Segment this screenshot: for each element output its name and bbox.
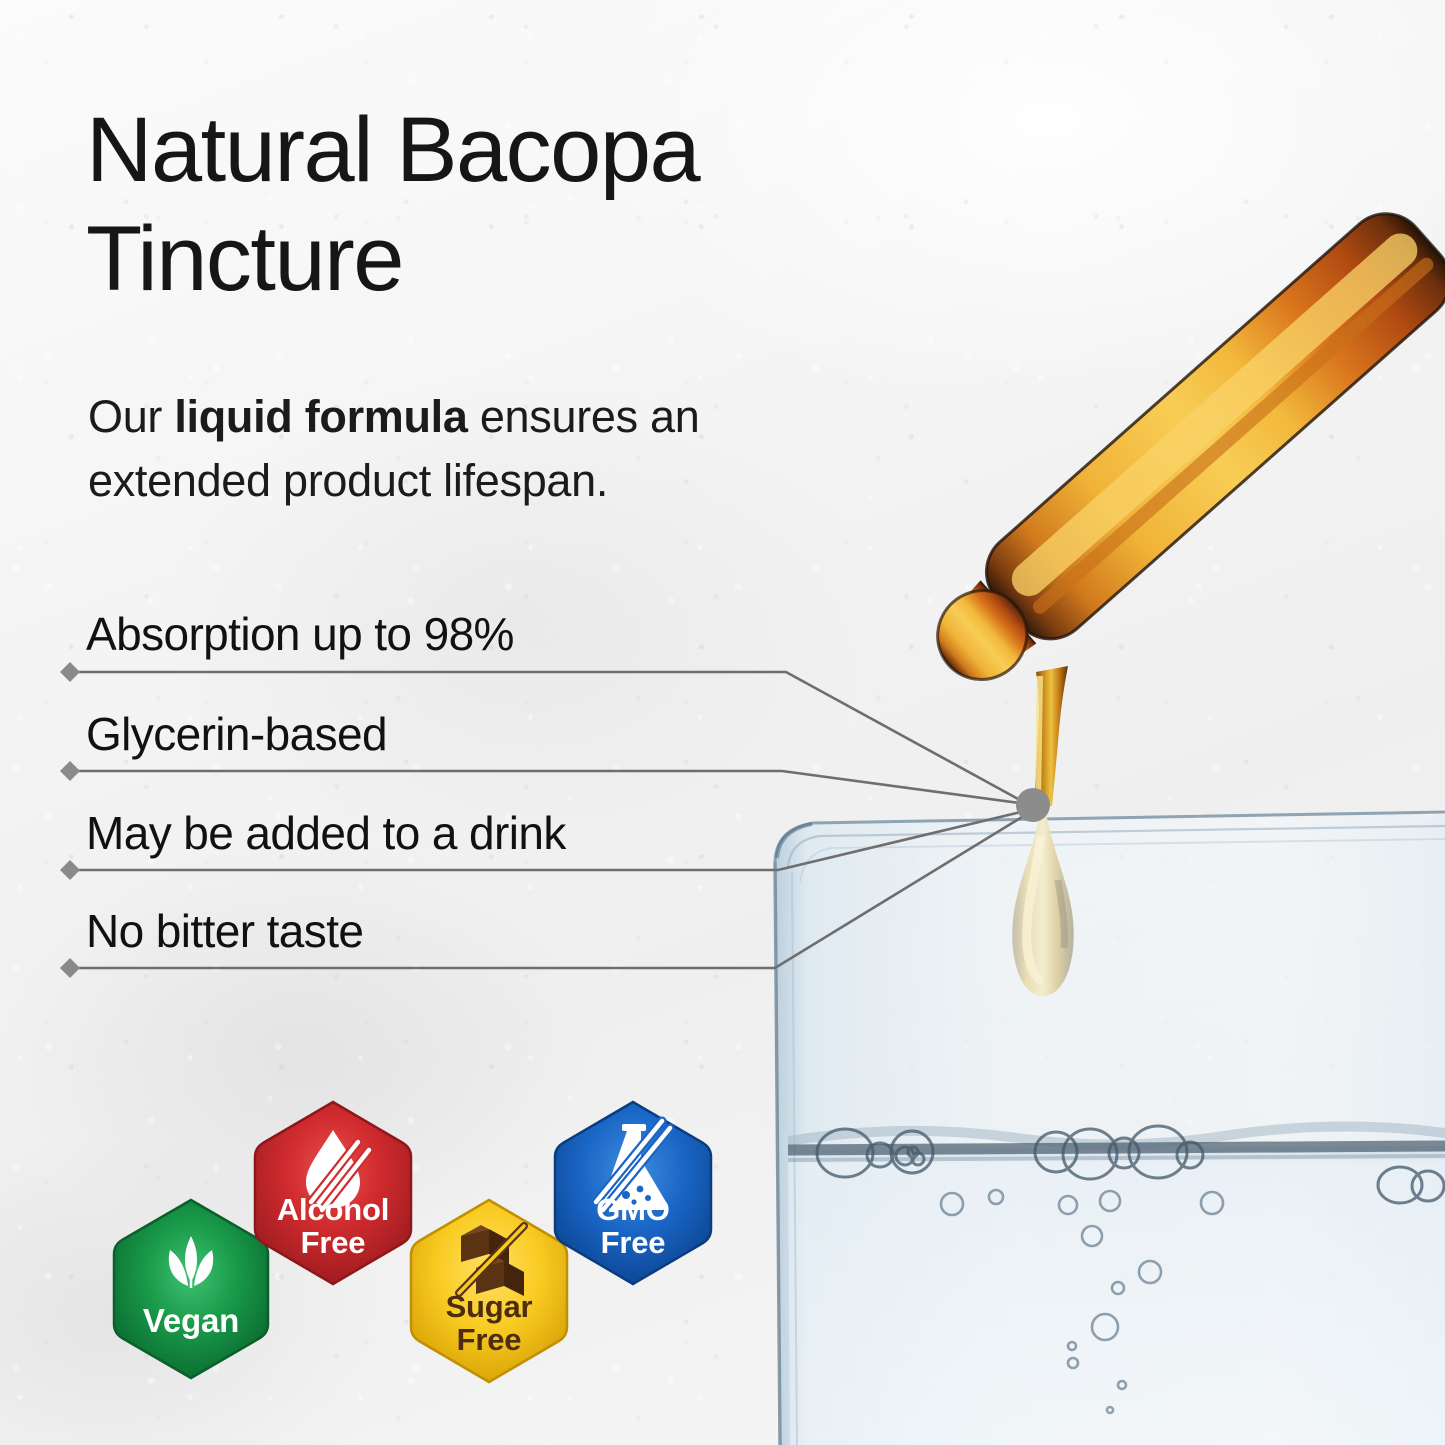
badge-sugar-free-label-2: Free	[404, 1324, 574, 1356]
subtitle-before: Our	[88, 391, 174, 442]
leader-line-1	[70, 771, 1019, 803]
glass-pipette	[919, 197, 1445, 806]
page-title: Natural Bacopa Tincture	[86, 96, 966, 313]
leader-marker-0	[60, 662, 80, 682]
badge-alcohol-free-label-1: Alcohol	[248, 1194, 418, 1226]
badge-vegan-label: Vegan	[108, 1304, 274, 1338]
feature-label-added-to-drink: May be added to a drink	[86, 810, 566, 856]
feature-label-glycerin: Glycerin-based	[86, 711, 387, 757]
feature-label-absorption: Absorption up to 98%	[86, 611, 514, 657]
leader-marker-2	[60, 860, 80, 880]
badge-gmo-free[interactable]: GMO Free	[548, 1098, 718, 1288]
hexagon-shape	[114, 1200, 268, 1378]
product-infographic: Natural Bacopa Tincture Our liquid formu…	[0, 0, 1445, 1445]
badge-gmo-free-label-1: GMO	[548, 1194, 718, 1226]
feature-label-no-bitter-taste: No bitter taste	[86, 908, 363, 954]
badge-alcohol-free-label-2: Free	[248, 1227, 418, 1259]
subtitle: Our liquid formula ensures an extended p…	[88, 385, 848, 513]
badge-gmo-free-label-2: Free	[548, 1227, 718, 1259]
leader-markers	[60, 662, 80, 978]
leader-marker-3	[60, 958, 80, 978]
badge-alcohol-free[interactable]: Alcohol Free	[248, 1098, 418, 1288]
badge-sugar-free-label-1: Sugar	[404, 1291, 574, 1323]
leader-marker-1	[60, 761, 80, 781]
convergence-dot	[1016, 788, 1050, 822]
subtitle-emphasis: liquid formula	[174, 391, 467, 442]
